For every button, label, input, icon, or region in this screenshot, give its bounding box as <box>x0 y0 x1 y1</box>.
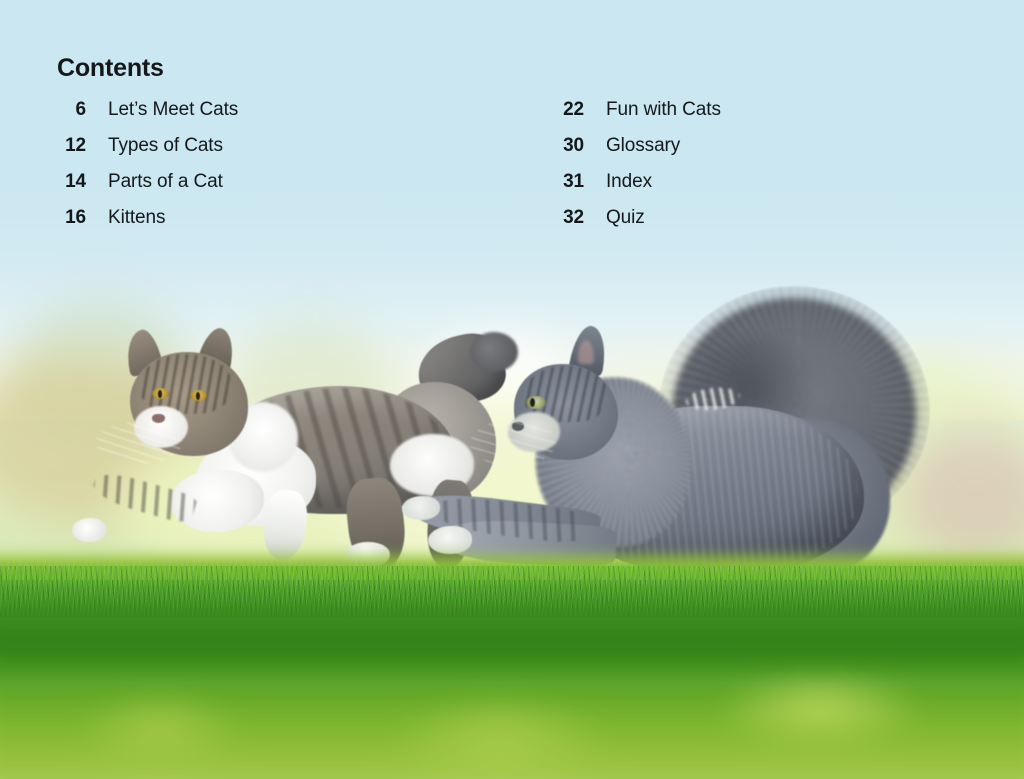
toc-entry[interactable]: 32 Quiz <box>545 207 721 243</box>
toc-page-number: 31 <box>545 171 584 193</box>
toc-entry[interactable]: 30 Glossary <box>545 135 721 171</box>
cat-front-paw <box>402 496 440 520</box>
toc-entry[interactable]: 12 Types of Cats <box>47 135 238 171</box>
toc-entry-label: Index <box>606 171 652 193</box>
cat-head-stripes <box>140 354 232 414</box>
grass-tips <box>0 560 1024 580</box>
toc-page-number: 6 <box>47 99 86 121</box>
cat-reaching-paw <box>72 518 106 542</box>
toc-page-number: 14 <box>47 171 86 193</box>
long-haired-grey-cat <box>472 300 942 590</box>
toc-entry[interactable]: 16 Kittens <box>47 207 238 243</box>
toc-page-number: 16 <box>47 207 86 229</box>
cat-whiskers <box>470 420 556 466</box>
toc-entry-label: Types of Cats <box>108 135 223 157</box>
book-contents-page: Contents 6 Let’s Meet Cats 12 Types of C… <box>0 0 1024 779</box>
toc-right-column: 22 Fun with Cats 30 Glossary 31 Index 32… <box>545 99 721 243</box>
cat-left-pupil <box>158 390 162 398</box>
cat-right-pupil <box>196 392 200 400</box>
cat-whiskers <box>96 422 182 464</box>
page-title: Contents <box>57 54 164 83</box>
toc-entry-label: Kittens <box>108 207 165 229</box>
toc-page-number: 30 <box>545 135 584 157</box>
cat-nose <box>152 414 165 423</box>
toc-entry-label: Let’s Meet Cats <box>108 99 238 121</box>
foreground-grass <box>0 672 1024 779</box>
toc-entry[interactable]: 6 Let’s Meet Cats <box>47 99 238 135</box>
toc-entry-label: Fun with Cats <box>606 99 721 121</box>
toc-entry-label: Glossary <box>606 135 680 157</box>
cat-pupil <box>530 398 535 407</box>
toc-entry[interactable]: 14 Parts of a Cat <box>47 171 238 207</box>
toc-entry[interactable]: 31 Index <box>545 171 721 207</box>
toc-entry-label: Parts of a Cat <box>108 171 223 193</box>
toc-entry[interactable]: 22 Fun with Cats <box>545 99 721 135</box>
toc-left-column: 6 Let’s Meet Cats 12 Types of Cats 14 Pa… <box>47 99 238 243</box>
toc-page-number: 32 <box>545 207 584 229</box>
cat-eye <box>526 396 546 409</box>
table-of-contents: Contents 6 Let’s Meet Cats 12 Types of C… <box>0 0 1024 44</box>
toc-entry-label: Quiz <box>606 207 645 229</box>
toc-page-number: 12 <box>47 135 86 157</box>
cat-front-leg-stripes <box>90 468 198 526</box>
toc-page-number: 22 <box>545 99 584 121</box>
cat-second-front-paw <box>428 526 472 554</box>
